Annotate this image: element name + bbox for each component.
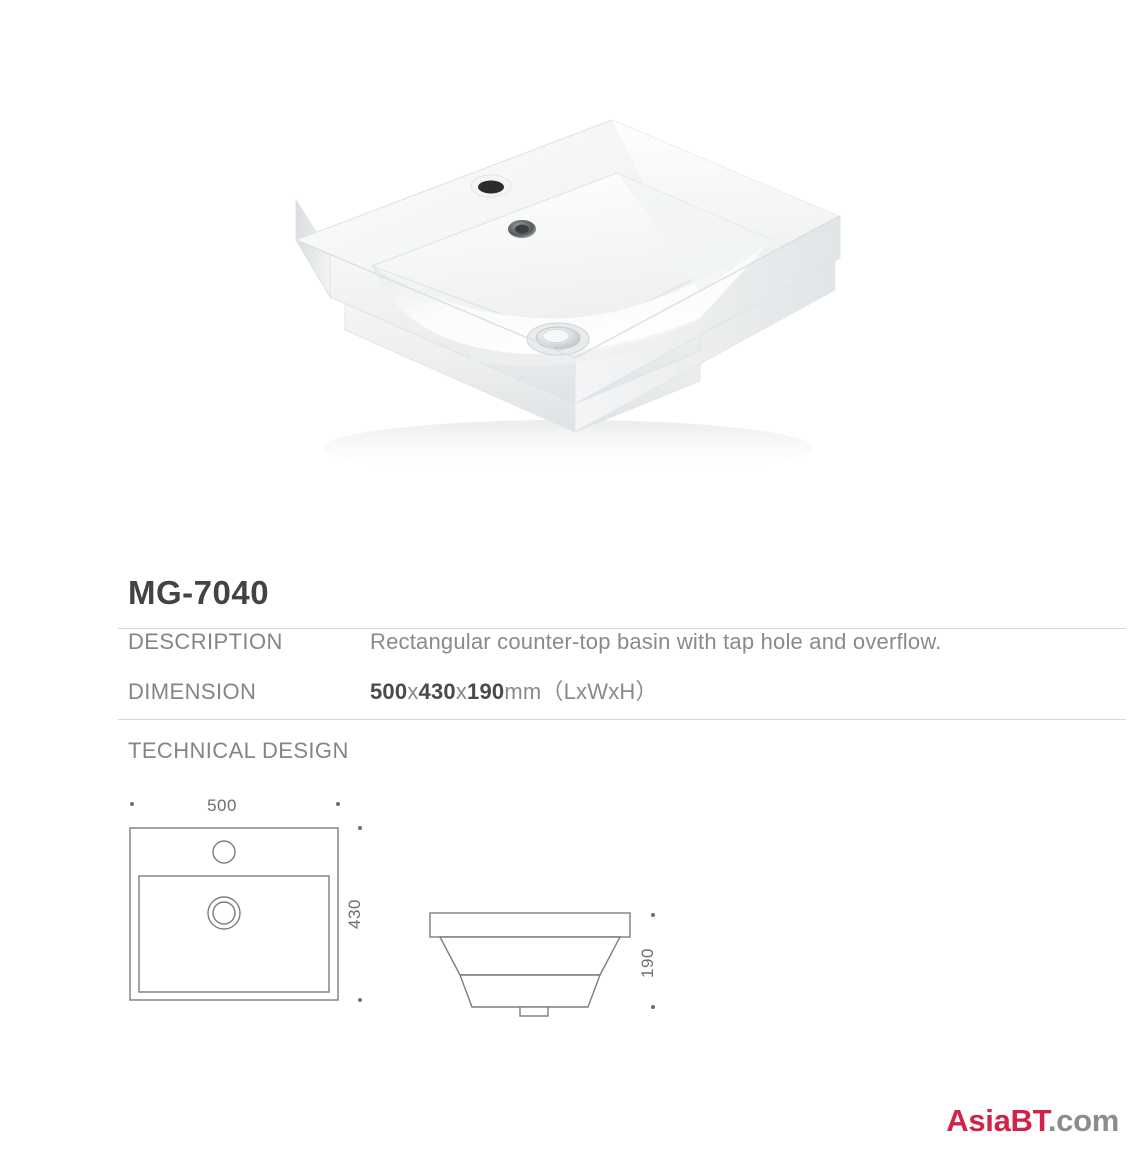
dimension-sep-1: x xyxy=(407,679,418,704)
basin-illustration xyxy=(0,0,1141,520)
dimension-tick xyxy=(130,802,134,806)
side-view-upper-taper xyxy=(440,937,620,975)
technical-design-heading: TECHNICAL DESIGN xyxy=(118,738,1126,764)
top-view-drain-inner xyxy=(213,902,235,924)
dimension-tick xyxy=(336,802,340,806)
product-photo xyxy=(0,0,1141,520)
asiabt-logo[interactable]: AsiaBT.com xyxy=(946,1104,1119,1138)
logo-tld-text: .com xyxy=(1048,1103,1119,1138)
top-view-tap-hole-circle xyxy=(213,841,235,863)
side-view-drain-nub xyxy=(520,1007,548,1016)
spec-value-description: Rectangular counter-top basin with tap h… xyxy=(370,629,942,655)
dimension-length: 500 xyxy=(370,679,407,704)
page-title: MG-7040 xyxy=(128,572,1126,614)
dimension-width: 430 xyxy=(419,679,456,704)
dimension-tick xyxy=(651,1005,655,1009)
top-view-drawing: 500 430 xyxy=(130,796,364,1002)
spec-label-description: DESCRIPTION xyxy=(118,629,370,655)
dimension-sep-2: x xyxy=(456,679,467,704)
dimension-suffix: （LxWxH） xyxy=(541,679,657,704)
overflow-hole xyxy=(508,220,536,238)
tap-hole xyxy=(471,175,511,197)
side-view-rim xyxy=(430,913,630,937)
dimension-tick xyxy=(358,998,362,1002)
spec-block: MG-7040 DESCRIPTION Rectangular counter-… xyxy=(118,572,1126,764)
side-view-height-label: 190 xyxy=(638,948,657,978)
spec-row-description: DESCRIPTION Rectangular counter-top basi… xyxy=(118,629,1126,674)
dimension-unit: mm xyxy=(504,679,541,704)
spec-row-dimension: DIMENSION 500x430x190mm（LxWxH） xyxy=(118,674,1126,719)
side-view-lower-taper xyxy=(460,975,600,1007)
logo-brand-text: AsiaBT xyxy=(946,1103,1048,1138)
spec-label-dimension: DIMENSION xyxy=(118,679,370,705)
top-view-depth-label: 430 xyxy=(345,899,364,929)
divider-bottom xyxy=(118,719,1126,720)
side-view-drawing: 190 xyxy=(430,913,657,1016)
spec-value-dimension: 500x430x190mm（LxWxH） xyxy=(370,674,658,706)
top-view-bowl xyxy=(139,876,329,992)
technical-drawings: 500 430 xyxy=(110,785,730,1035)
dimension-tick xyxy=(358,826,362,830)
top-view-width-label: 500 xyxy=(207,796,237,815)
dimension-tick xyxy=(651,913,655,917)
dimension-height: 190 xyxy=(467,679,504,704)
spec-table: DESCRIPTION Rectangular counter-top basi… xyxy=(118,629,1126,719)
